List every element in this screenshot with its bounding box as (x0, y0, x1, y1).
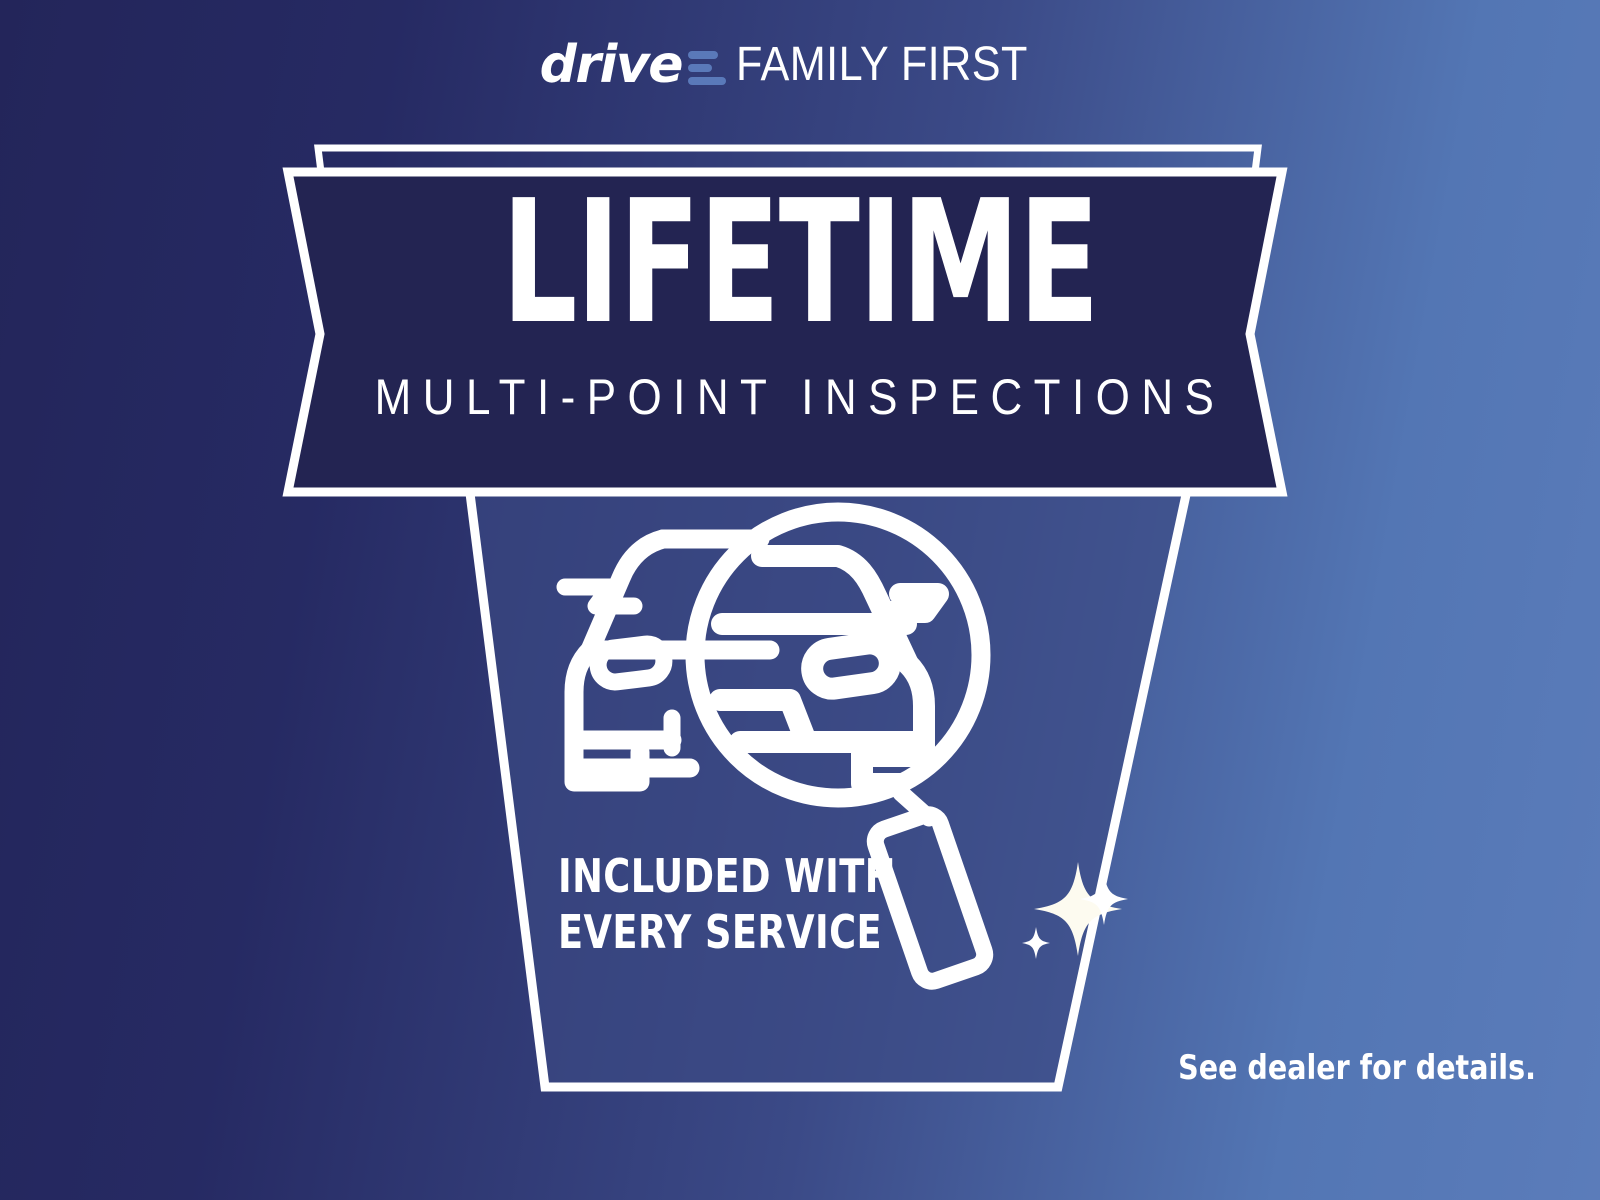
shield-callout-line2: EVERY SERVICE (558, 904, 896, 960)
promo-graphic: drive FAMILY FIRST (0, 0, 1600, 1200)
page-title: LIFETIME (450, 178, 1150, 348)
shield-callout-line1: INCLUDED WITH (558, 848, 896, 904)
page-subtitle: MULTI-POINT INSPECTIONS (360, 372, 1240, 422)
disclaimer-text: See dealer for details. (1178, 1051, 1536, 1085)
shield-callout: INCLUDED WITH EVERY SERVICE (558, 848, 896, 960)
